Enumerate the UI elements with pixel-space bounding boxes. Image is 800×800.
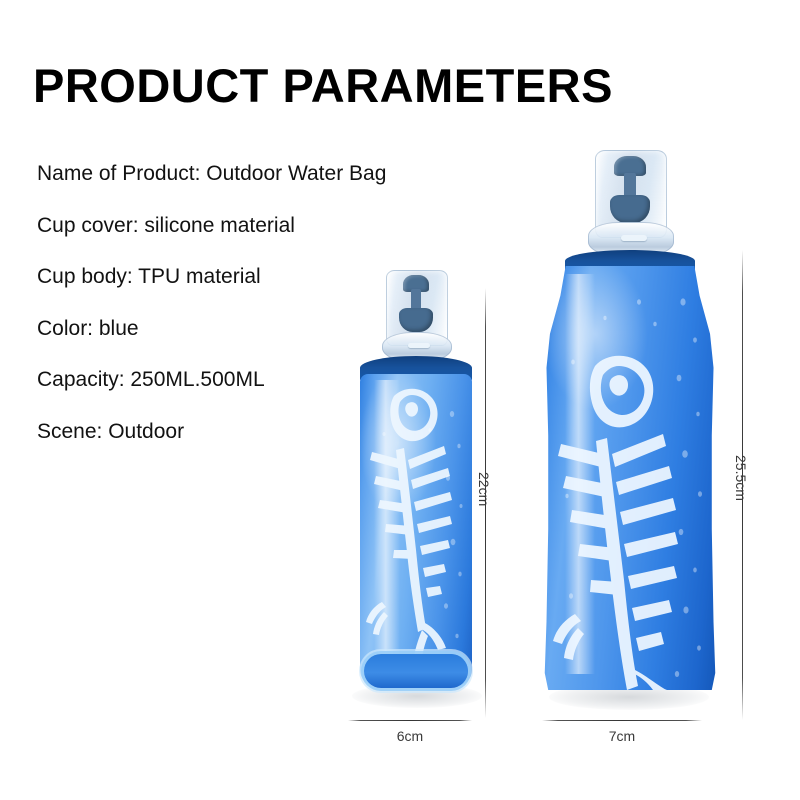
large-flask-width-line	[542, 720, 702, 721]
small-flask-width-line	[348, 720, 472, 721]
small-flask-cap	[386, 270, 446, 366]
fish-skeleton-icon	[543, 266, 717, 690]
body-gloss-highlight	[565, 274, 595, 674]
large-flask-cap	[595, 150, 665, 262]
bite-valve-base	[610, 195, 650, 223]
page-title: PRODUCT PARAMETERS	[33, 62, 613, 109]
large-flask-width-label: 7cm	[542, 728, 702, 744]
condensation-droplets	[360, 374, 472, 686]
small-flask-base	[364, 654, 468, 688]
small-flask-body	[360, 374, 472, 686]
large-soft-flask	[535, 150, 725, 710]
body-gloss-highlight	[374, 380, 400, 670]
cap-tab	[621, 235, 647, 241]
small-flask-height-label: 22cm	[476, 472, 492, 506]
condensation-droplets	[543, 266, 717, 690]
large-flask-body	[543, 266, 717, 690]
product-photo-stage: 22cm 6cm	[320, 120, 790, 780]
product-parameters-image: PRODUCT PARAMETERS Name of Product: Outd…	[0, 0, 800, 800]
fish-skeleton-icon	[360, 374, 472, 686]
large-flask-height-label: 25.5cm	[733, 455, 749, 501]
bite-valve-base	[399, 308, 433, 332]
cap-tab	[408, 343, 430, 348]
small-flask-width-label: 6cm	[348, 728, 472, 744]
